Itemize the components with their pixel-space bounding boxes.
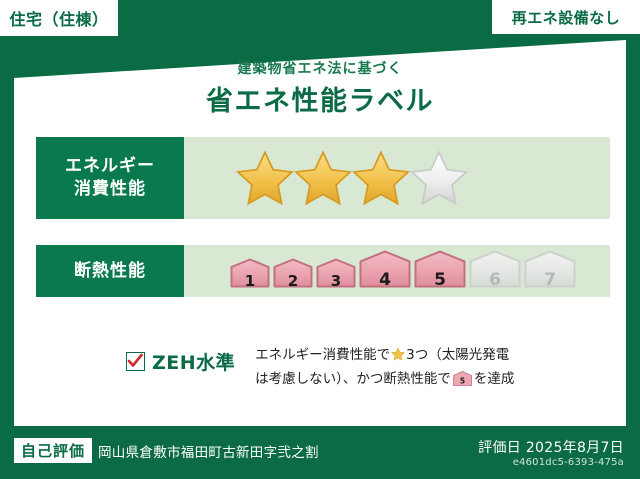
- insulation-grade-badge-7: 7: [524, 250, 576, 292]
- insulation-grade-badge-4: 4: [359, 250, 411, 292]
- energy-performance-label: 住宅（住棟） 再エネ設備なし 建築物省エネ法に基づく 省エネ性能ラベル エネルギ…: [0, 0, 640, 479]
- svg-text:5: 5: [460, 377, 465, 386]
- insulation-grade-number: 6: [469, 272, 521, 289]
- zeh-label: ZEH水準: [152, 348, 235, 375]
- insulation-grade-badge-6: 6: [469, 250, 521, 292]
- insulation-grade-number: 3: [316, 274, 356, 289]
- insulation-grade-badge-2: 2: [273, 258, 313, 292]
- zeh-description: エネルギー消費性能で3つ（太陽光発電は考慮しない）、かつ断熱性能で5を達成: [255, 344, 555, 394]
- zeh-desc-part1: エネルギー消費性能で: [255, 347, 390, 363]
- star-filled-icon: [236, 149, 294, 207]
- building-type-badge: 住宅（住棟）: [0, 0, 118, 36]
- energy-label-line1: エネルギー: [65, 155, 155, 178]
- star-filled-icon: [294, 149, 352, 207]
- insulation-grade-badge-1: 1: [230, 258, 270, 292]
- insulation-performance-value: 1234567: [184, 245, 610, 297]
- energy-performance-value: [184, 137, 610, 219]
- building-type-text: 住宅（住棟）: [9, 6, 108, 30]
- star-empty-icon: [410, 149, 468, 207]
- insulation-grade-number: 5: [414, 272, 466, 289]
- evaluation-date: 評価日 2025年8月7日: [478, 437, 624, 457]
- zeh-badge: ZEH水準: [126, 348, 235, 375]
- zeh-section: ZEH水準 エネルギー消費性能で3つ（太陽光発電は考慮しない）、かつ断熱性能で5…: [126, 344, 555, 394]
- star-rating: [236, 149, 468, 207]
- inline-star-icon: [391, 349, 405, 365]
- insulation-performance-row: 断熱性能 1234567: [36, 245, 610, 297]
- renewable-energy-text: 再エネ設備なし: [512, 7, 621, 28]
- evaluation-date-value: 2025年8月7日: [526, 440, 624, 456]
- star-filled-icon: [352, 149, 410, 207]
- inline-house-badge-icon: 5: [453, 374, 472, 390]
- insulation-label-line1: 断熱性能: [74, 260, 146, 283]
- check-icon: [127, 353, 143, 369]
- evaluation-id: e4601dc5-6393-475a: [513, 457, 624, 468]
- energy-label-line2: 消費性能: [74, 178, 146, 201]
- insulation-performance-label-box: 断熱性能: [36, 245, 184, 297]
- label-subtitle: 建築物省エネ法に基づく: [0, 58, 640, 78]
- insulation-grade-number: 4: [359, 272, 411, 289]
- energy-performance-row: エネルギー 消費性能: [36, 137, 610, 219]
- zeh-desc-part4: を達成: [474, 371, 515, 387]
- insulation-grade-number: 2: [273, 274, 313, 289]
- property-address: 岡山県倉敷市福田町古新田字弐之割: [98, 441, 319, 461]
- zeh-desc-part2: 3つ（太陽光発電: [406, 347, 509, 363]
- zeh-desc-part3: は考慮しない）、かつ断熱性能で: [255, 371, 451, 387]
- zeh-checkbox[interactable]: [126, 352, 145, 371]
- insulation-grade-badge-3: 3: [316, 258, 356, 292]
- insulation-grade-number: 1: [230, 274, 270, 289]
- insulation-grade-badge-5: 5: [414, 250, 466, 292]
- footer: 自己評価 岡山県倉敷市福田町古新田字弐之割 評価日 2025年8月7日 e460…: [0, 429, 640, 479]
- label-title: 省エネ性能ラベル: [0, 79, 640, 118]
- renewable-energy-badge: 再エネ設備なし: [492, 0, 640, 34]
- self-evaluation-badge: 自己評価: [14, 438, 92, 463]
- insulation-grade-scale: 1234567: [230, 250, 576, 292]
- energy-performance-label-box: エネルギー 消費性能: [36, 137, 184, 219]
- evaluation-date-label: 評価日: [478, 440, 521, 456]
- insulation-grade-number: 7: [524, 272, 576, 289]
